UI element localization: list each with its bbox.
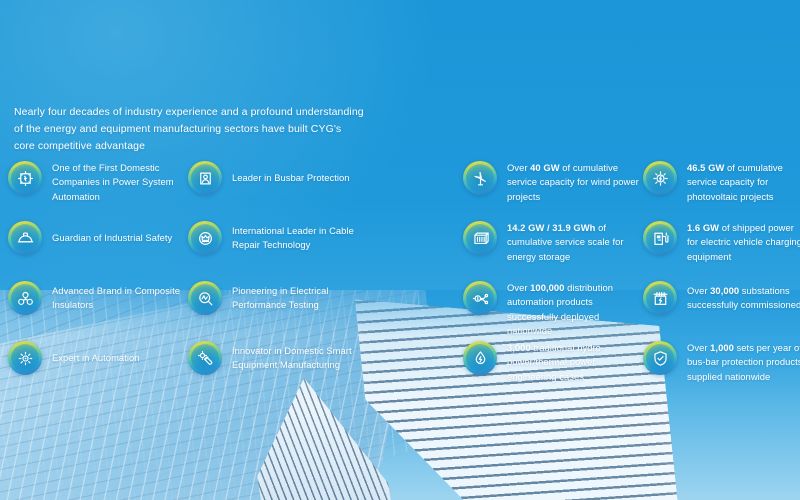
shield-check-icon xyxy=(643,341,677,375)
intro-paragraph: Nearly four decades of industry experien… xyxy=(14,104,364,155)
list-item[interactable]: Guardian of Industrial Safety xyxy=(8,220,188,255)
list-item[interactable]: 14.2 GW / 31.9 GWh of cumulative service… xyxy=(463,220,643,264)
substation-icon xyxy=(643,281,677,315)
power-automation-chip-icon xyxy=(8,161,42,195)
list-item[interactable]: Pioneering in Electrical Performance Tes… xyxy=(188,280,373,315)
list-item-label: Leader in Busbar Protection xyxy=(222,170,350,185)
metric-label: 46.5 GW of cumulative service capacity f… xyxy=(677,160,800,204)
ev-charging-station-icon xyxy=(643,221,677,255)
list-item[interactable]: Over 100,000 distribution automation pro… xyxy=(463,280,643,338)
list-item-label: Advanced Brand in Composite Insulators xyxy=(42,283,188,313)
list-item[interactable]: Advanced Brand in Composite Insulators xyxy=(8,280,188,315)
distribution-automation-icon xyxy=(463,281,497,315)
list-item[interactable]: 3,000 traditional hydro-power/thermal po… xyxy=(463,340,643,384)
metric-label: Over 30,000 substations successfully com… xyxy=(677,283,800,313)
metric-label: Over 40 GW of cumulative service capacit… xyxy=(497,160,643,204)
list-item[interactable]: Over 1,000 sets per year of bus-bar prot… xyxy=(643,340,800,384)
wind-turbine-icon xyxy=(463,161,497,195)
metric-label: 1.6 GW of shipped power for electric veh… xyxy=(677,220,800,264)
list-item-label: Guardian of Industrial Safety xyxy=(42,230,172,245)
list-item[interactable]: Expert in Automation xyxy=(8,340,188,375)
hard-hat-icon xyxy=(8,221,42,255)
list-item-label: Expert in Automation xyxy=(42,350,140,365)
crown-badge-icon xyxy=(188,221,222,255)
list-item[interactable]: Leader in Busbar Protection xyxy=(188,160,373,195)
busbar-protection-shield-icon xyxy=(188,161,222,195)
list-item-label: Pioneering in Electrical Performance Tes… xyxy=(222,283,373,313)
metric-label: Over 100,000 distribution automation pro… xyxy=(497,280,643,338)
list-item[interactable]: One of the First Domestic Companies in P… xyxy=(8,160,188,204)
content-root: Nearly four decades of industry experien… xyxy=(0,0,800,500)
list-item-label: International Leader in Cable Repair Tec… xyxy=(222,223,373,253)
energy-storage-container-icon xyxy=(463,221,497,255)
solar-sun-icon xyxy=(643,161,677,195)
gear-automation-icon xyxy=(8,341,42,375)
list-item-label: One of the First Domestic Companies in P… xyxy=(42,160,188,204)
smart-equipment-tool-icon xyxy=(188,341,222,375)
list-item[interactable]: 46.5 GW of cumulative service capacity f… xyxy=(643,160,800,204)
metric-label: 3,000 traditional hydro-power/thermal po… xyxy=(497,340,643,384)
list-item[interactable]: Over 40 GW of cumulative service capacit… xyxy=(463,160,643,204)
list-item[interactable]: 1.6 GW of shipped power for electric veh… xyxy=(643,220,800,264)
list-item[interactable]: Over 30,000 substations successfully com… xyxy=(643,280,800,315)
metric-label: 14.2 GW / 31.9 GWh of cumulative service… xyxy=(497,220,643,264)
waveform-magnifier-icon xyxy=(188,281,222,315)
composite-insulator-icon xyxy=(8,281,42,315)
metric-label: Over 1,000 sets per year of bus-bar prot… xyxy=(677,340,800,384)
hydro-power-drop-icon xyxy=(463,341,497,375)
list-item[interactable]: International Leader in Cable Repair Tec… xyxy=(188,220,373,255)
list-item-label: Innovator in Domestic Smart Equipment Ma… xyxy=(222,343,373,373)
list-item[interactable]: Innovator in Domestic Smart Equipment Ma… xyxy=(188,340,373,375)
